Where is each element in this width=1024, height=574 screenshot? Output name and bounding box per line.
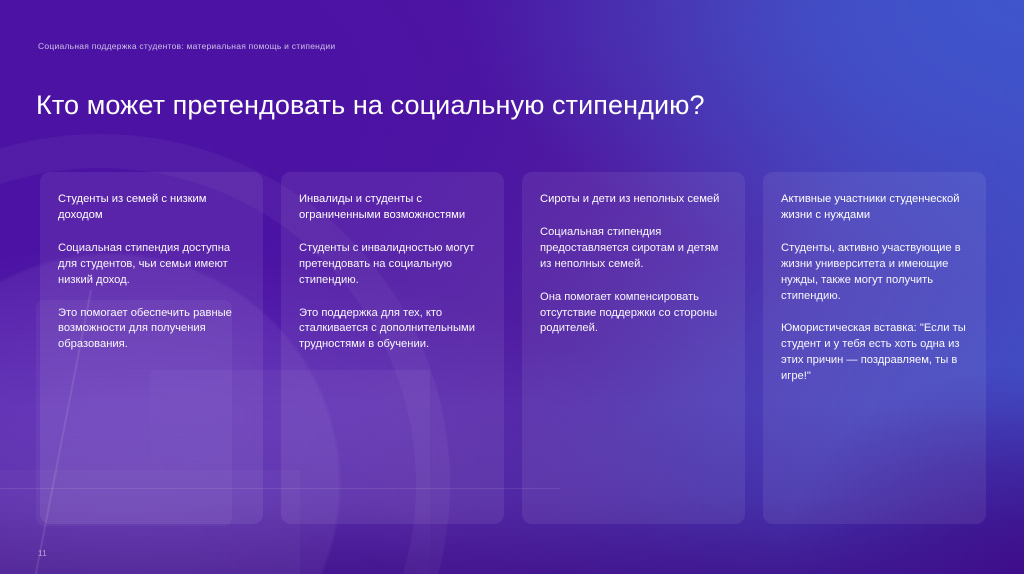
card-paragraph: Социальная стипендия доступна для студен… — [58, 241, 245, 289]
card-heading: Студенты из семей с низким доходом — [58, 192, 245, 224]
presentation-slide: Социальная поддержка студентов: материал… — [0, 0, 1024, 574]
card-paragraph: Социальная стипендия предоставляется сир… — [540, 225, 727, 273]
card-disabled-students[interactable]: Инвалиды и студенты с ограниченными возм… — [281, 172, 504, 524]
card-heading: Инвалиды и студенты с ограниченными возм… — [299, 192, 486, 224]
card-heading: Сироты и дети из неполных семей — [540, 192, 727, 208]
card-low-income-families[interactable]: Студенты из семей с низким доходом Социа… — [40, 172, 263, 524]
card-paragraph: Студенты с инвалидностью могут претендов… — [299, 241, 486, 289]
card-orphans-single-parent[interactable]: Сироты и дети из неполных семей Социальн… — [522, 172, 745, 524]
card-active-participants[interactable]: Активные участники студенческой жизни с … — [763, 172, 986, 524]
card-paragraph: Студенты, активно участвующие в жизни ун… — [781, 241, 968, 305]
card-list: Студенты из семей с низким доходом Социа… — [40, 172, 986, 524]
card-paragraph: Она помогает компенсировать отсутствие п… — [540, 290, 727, 338]
card-paragraph: Это поддержка для тех, кто сталкивается … — [299, 306, 486, 354]
card-paragraph: Это помогает обеспечить равные возможнос… — [58, 306, 245, 354]
page-title: Кто может претендовать на социальную сти… — [36, 90, 705, 121]
slide-kicker: Социальная поддержка студентов: материал… — [38, 41, 335, 51]
page-number: 11 — [38, 549, 47, 558]
card-heading: Активные участники студенческой жизни с … — [781, 192, 968, 224]
card-paragraph: Юмористическая вставка: "Если ты студент… — [781, 321, 968, 385]
